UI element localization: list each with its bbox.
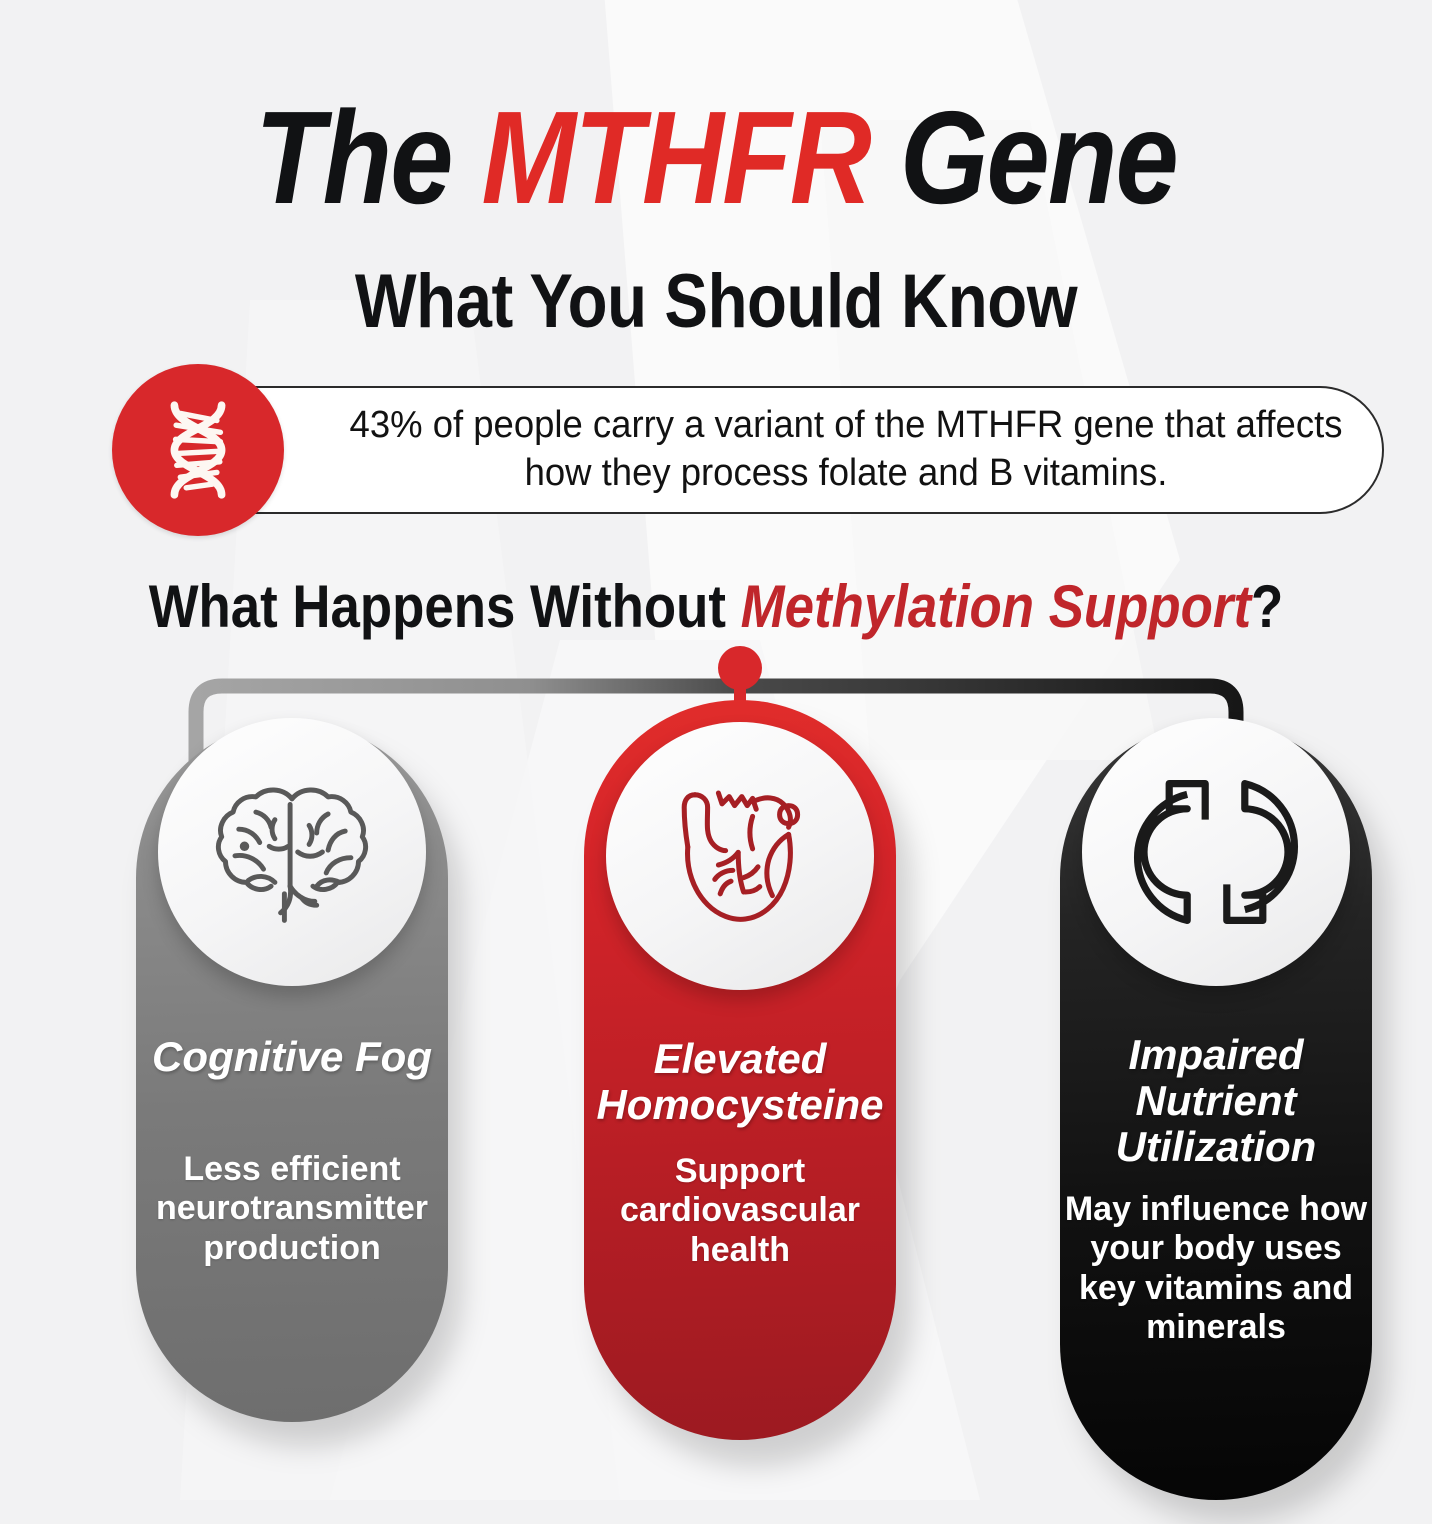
fact-callout-box: 43% of people carry a variant of the MTH… xyxy=(188,386,1384,514)
card-title: Cognitive Fog xyxy=(136,1034,448,1080)
card-title: Elevated Homocysteine xyxy=(584,1036,896,1128)
title-part-mthfr: MTHFR xyxy=(482,84,871,231)
card-description: Less efficient neurotransmitter producti… xyxy=(136,1150,448,1268)
card-icon-circle xyxy=(1082,718,1350,986)
fact-text: 43% of people carry a variant of the MTH… xyxy=(342,402,1350,498)
card-description: May influence how your body uses key vit… xyxy=(1060,1190,1372,1348)
red-dot-node xyxy=(718,646,762,690)
card-icon-circle xyxy=(158,718,426,986)
page-subtitle: What You Should Know xyxy=(100,258,1332,345)
recycle-arrows-icon xyxy=(1126,762,1306,942)
title-part-gene: Gene xyxy=(870,84,1177,231)
card-icon-circle xyxy=(606,722,874,990)
card-title: Impaired Nutrient Utilization xyxy=(1060,1032,1372,1171)
dna-badge xyxy=(112,364,284,536)
heart-icon xyxy=(650,766,830,946)
dna-helix-icon xyxy=(139,391,257,509)
page-title: The MTHFR Gene xyxy=(100,92,1332,224)
card-description: Support cardiovascular health xyxy=(584,1152,896,1270)
title-part-the: The xyxy=(255,84,481,231)
brain-icon xyxy=(197,757,387,947)
